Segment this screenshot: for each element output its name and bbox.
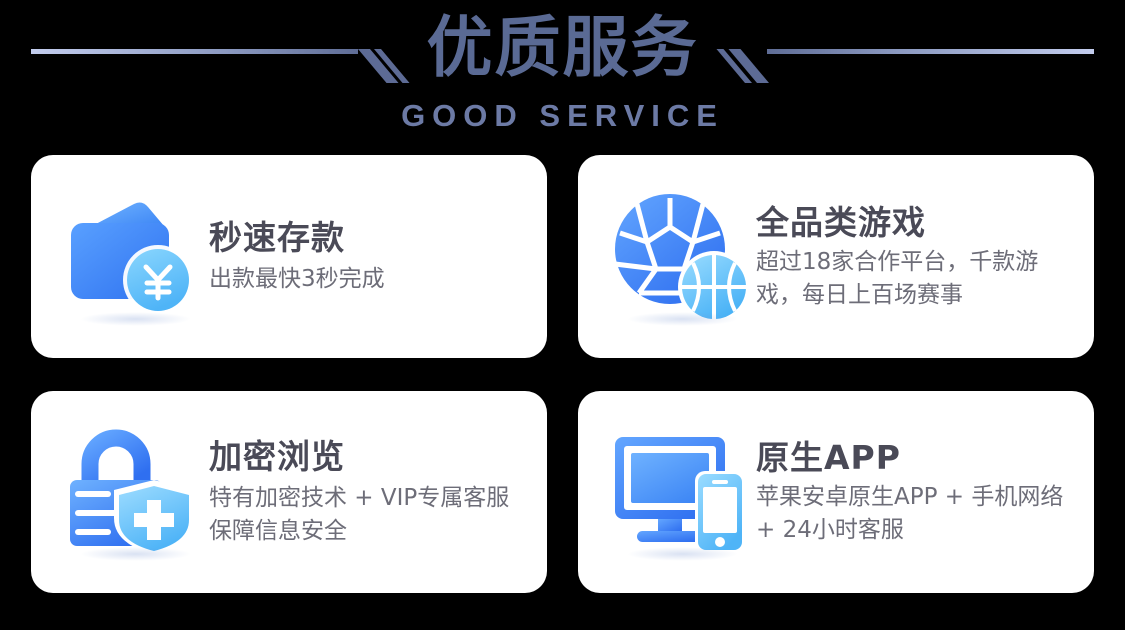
card-description: 超过18家合作平台，千款游戏，每日上百场赛事	[756, 246, 1076, 312]
icon-shadow	[80, 547, 191, 561]
card-title: 全品类游戏	[756, 202, 1076, 244]
soccer-basketball-icon	[606, 182, 756, 332]
card-text: 秒速存款 出款最快3秒完成	[209, 217, 547, 296]
feature-card-deposit[interactable]: 秒速存款 出款最快3秒完成	[31, 155, 547, 358]
card-text: 加密浏览 特有加密技术 + VIP专属客服保障信息安全	[209, 436, 547, 548]
page-title: 优质服务	[0, 8, 1125, 88]
card-title: 加密浏览	[209, 436, 529, 478]
icon-shadow	[627, 547, 738, 561]
card-description: 特有加密技术 + VIP专属客服保障信息安全	[209, 482, 529, 548]
monitor-phone-icon	[606, 417, 756, 567]
card-text: 原生APP 苹果安卓原生APP + 手机网络 + 24小时客服	[756, 437, 1094, 547]
icon-shadow	[627, 312, 738, 326]
card-title: 原生APP	[756, 437, 1076, 479]
card-description: 出款最快3秒完成	[209, 263, 529, 296]
feature-card-games[interactable]: 全品类游戏 超过18家合作平台，千款游戏，每日上百场赛事	[578, 155, 1094, 358]
card-description: 苹果安卓原生APP + 手机网络 + 24小时客服	[756, 481, 1076, 547]
feature-card-grid: 秒速存款 出款最快3秒完成	[31, 155, 1094, 593]
page-subtitle: GOOD SERVICE	[0, 99, 1125, 133]
card-text: 全品类游戏 超过18家合作平台，千款游戏，每日上百场赛事	[756, 202, 1094, 312]
card-title: 秒速存款	[209, 217, 529, 259]
lock-shield-icon	[59, 417, 209, 567]
icon-shadow	[80, 312, 191, 326]
promo-banner: 优质服务 GOOD SERVICE	[0, 0, 1125, 630]
banner-header: 优质服务 GOOD SERVICE	[0, 0, 1125, 148]
feature-card-native-app[interactable]: 原生APP 苹果安卓原生APP + 手机网络 + 24小时客服	[578, 391, 1094, 593]
wallet-yen-icon	[59, 182, 209, 332]
feature-card-encryption[interactable]: 加密浏览 特有加密技术 + VIP专属客服保障信息安全	[31, 391, 547, 593]
